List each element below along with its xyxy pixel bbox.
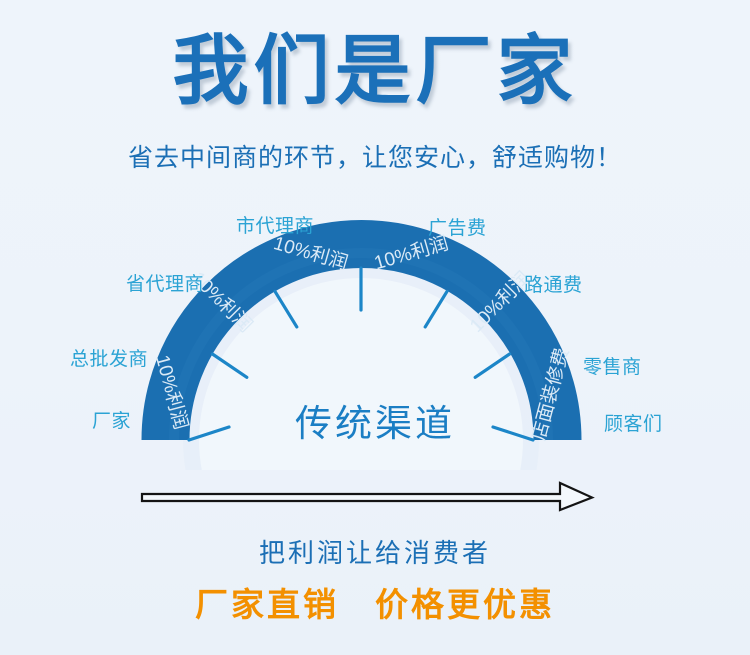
label-retailer: 零售商	[583, 358, 642, 377]
label-logistics-fee: 路通费	[524, 276, 583, 295]
footer-line-2: 厂家直销 价格更优惠	[0, 578, 750, 626]
label-wholesaler: 总批发商	[70, 350, 148, 369]
label-province-agent: 省代理商	[126, 275, 204, 294]
progress-arrow	[140, 480, 595, 512]
poster-canvas: 我们是厂家 省去中间商的环节，让您安心，舒适购物！	[0, 0, 750, 655]
footer-line-1: 把利润让给消费者	[0, 533, 750, 570]
diagram-center-label: 传统渠道	[0, 393, 750, 447]
label-advertising-fee: 广告费	[428, 219, 487, 238]
label-city-agent: 市代理商	[236, 217, 314, 236]
channel-funnel-diagram: 10%利润 10%利润 10%利润 10%利润 10%利润	[0, 0, 750, 470]
arrow-shape	[142, 483, 592, 510]
arrow-icon	[140, 480, 595, 512]
